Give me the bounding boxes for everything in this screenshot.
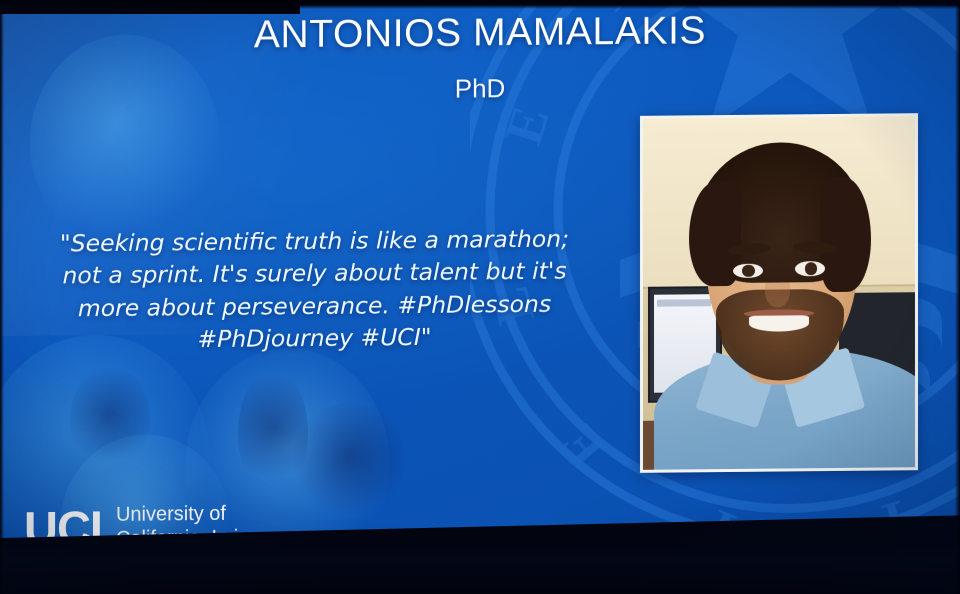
background-photo-blur <box>290 402 410 523</box>
photo-background <box>657 299 711 307</box>
player-right-controls: CC <box>853 552 942 567</box>
screenshot-root: T H E L E T T H E R E ANTONIOS MAMALAKIS… <box>0 0 960 594</box>
photo-subject <box>742 264 755 277</box>
background-photo-blur <box>30 34 220 251</box>
svg-text:E: E <box>493 99 561 151</box>
background-photo-blur <box>238 368 308 499</box>
closed-captions-button[interactable]: CC <box>880 552 899 566</box>
volume-icon[interactable] <box>853 553 871 566</box>
background-photo-blur <box>70 365 150 476</box>
page-subtitle: PhD <box>0 69 960 109</box>
quote-line: not a sprint. It's surely about talent b… <box>22 255 607 293</box>
quote-line: #PhDjourney #UCI" <box>22 319 607 357</box>
presentation-slide: T H E L E T T H E R E ANTONIOS MAMALAKIS… <box>0 0 960 558</box>
uci-logo-wordmark: University of California, Irvine <box>116 501 261 551</box>
uci-logo-mark: UCI <box>24 506 102 550</box>
quote-text: "Seeking scientific truth is like a mara… <box>22 222 607 357</box>
settings-gear-icon[interactable] <box>908 552 921 565</box>
fullscreen-icon[interactable] <box>930 552 942 564</box>
quote-line: more about perseverance. #PhDlessons <box>22 287 607 325</box>
svg-text:T: T <box>869 487 920 555</box>
svg-text:T: T <box>692 495 749 558</box>
uci-logo: UCI University of California, Irvine <box>24 501 260 552</box>
page-title: ANTONIOS MAMALAKIS <box>0 7 960 60</box>
svg-text:E: E <box>548 413 617 479</box>
portrait-photo <box>640 113 918 473</box>
